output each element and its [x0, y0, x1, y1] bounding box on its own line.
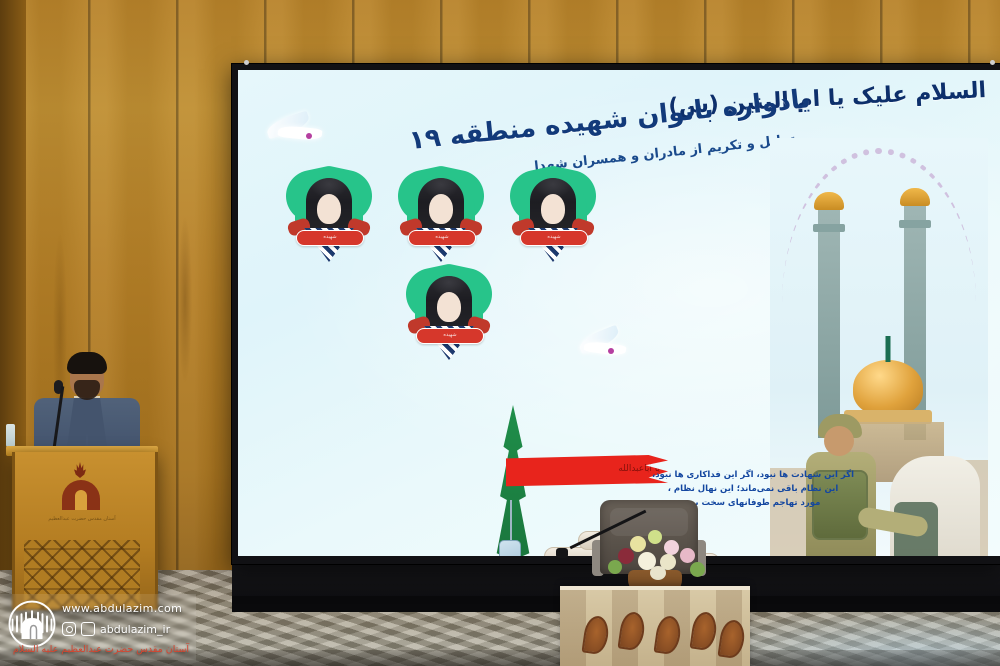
paisley-motif: [581, 615, 610, 656]
table-microphone-base: [556, 548, 568, 558]
quote-line-1: اگر این شهادت ها نبود، اگر این فداکاری ه…: [638, 468, 868, 482]
paisley-motif: [617, 611, 646, 652]
paisley-motif: [689, 611, 718, 652]
conference-hall-scene: السلام علیک یا ام البنین (س) یادواره بان…: [0, 0, 1000, 666]
water-bottle: [6, 424, 15, 448]
martyr-medallion-3: شهیده: [510, 170, 596, 270]
flower-arrangement: [600, 530, 710, 592]
watermark-url: www.abdulazim.com: [62, 602, 182, 615]
podium-caption: آستان مقدس حضرت عبدالعظیم: [40, 516, 124, 522]
watermark-organization: آستان مقدس حضرت عبدالعظیم علیه السلام: [8, 644, 194, 655]
screen-hook-left: [244, 60, 249, 65]
martyr-medallion-1: شهیده: [286, 170, 372, 270]
martyr-medallion-2: شهیده: [398, 170, 484, 270]
elderly-woman-figure: [890, 456, 980, 556]
watermark-social: abdulazim_ir: [62, 622, 170, 636]
dogtag-chain: [510, 500, 512, 542]
paisley-motif: [653, 615, 682, 656]
watermark-social-handle: abdulazim_ir: [100, 623, 170, 636]
projection-screen: السلام علیک یا ام البنین (س) یادواره بان…: [238, 70, 1000, 556]
medallion-name-3: شهیده: [521, 231, 587, 243]
telegram-icon: [81, 622, 95, 636]
quote-line-2: این نظام باقی نمی‌ماند؛ این نهال نظام ،: [638, 482, 868, 496]
medallion-name-1: شهیده: [297, 231, 363, 243]
instagram-icon: [62, 622, 76, 636]
screen-hook-right: [990, 60, 995, 65]
medallion-name-4: شهیده: [417, 329, 483, 341]
martyr-medallion-4: شهیده: [406, 268, 492, 368]
speaker-table: [560, 586, 750, 666]
shrine-emblem-icon: [52, 462, 110, 518]
minaret-left: [818, 208, 840, 438]
military-dogtag: [499, 540, 521, 556]
shrine-dome-logo-icon: [8, 600, 56, 648]
speaker-person: [30, 352, 144, 460]
paisley-motif: [717, 619, 746, 660]
medallion-name-2: شهیده: [409, 231, 475, 243]
